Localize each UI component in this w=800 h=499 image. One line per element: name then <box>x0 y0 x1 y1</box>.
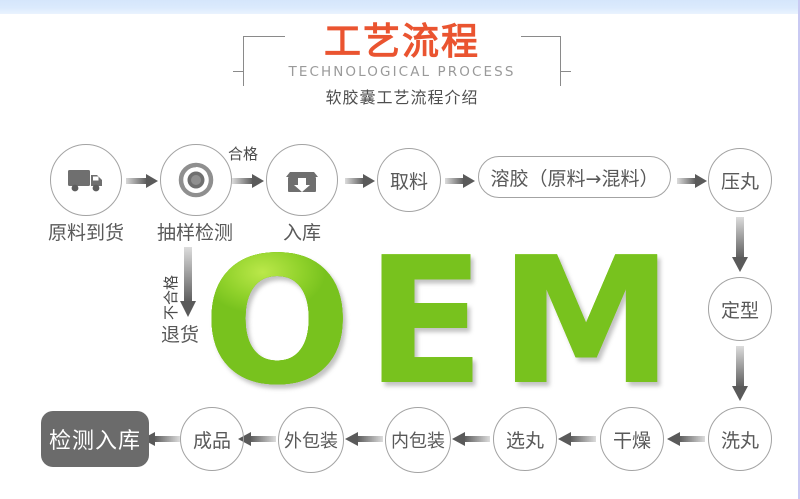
caption-sampling-inspection: 抽样检测 <box>145 218 245 245</box>
node-drying[interactable]: 干燥 <box>600 407 664 471</box>
node-gel-dissolving[interactable]: 溶胶（原料→混料） <box>478 156 671 198</box>
node-finished-product-label: 成品 <box>193 426 231 453</box>
node-shaping[interactable]: 定型 <box>708 277 772 341</box>
process-flow-infographic: 工艺流程 TECHNOLOGICAL PROCESS 软胶囊工艺流程介绍 OEM… <box>0 0 800 499</box>
node-pill-selection-label: 选丸 <box>506 426 544 453</box>
arrow-material-to-gel <box>445 172 475 190</box>
bracket-tick-right <box>560 71 571 72</box>
arrow-reject-down <box>178 247 198 319</box>
arrow-drying-to-selection <box>558 430 596 448</box>
arrow-washing-to-drying <box>667 430 705 448</box>
top-blue-strip <box>0 0 800 14</box>
arrow-pressing-to-shaping <box>730 217 750 273</box>
node-outer-packaging-label: 外包装 <box>284 427 338 453</box>
truck-icon <box>63 157 109 203</box>
node-pill-pressing[interactable]: 压丸 <box>708 148 772 212</box>
arrow-sampling-to-warehouse <box>232 172 264 190</box>
node-inspection-storage[interactable]: 检测入库 <box>41 411 149 467</box>
caption-return-goods: 退货 <box>145 320 215 347</box>
arrow-shaping-to-washing <box>730 346 750 402</box>
arrow-warehouse-to-material <box>345 172 375 190</box>
node-pill-washing-label: 洗丸 <box>721 426 759 453</box>
page-title-english: TECHNOLOGICAL PROCESS <box>243 64 561 80</box>
node-drying-label: 干燥 <box>613 426 651 453</box>
arrow-inner-to-outer-packaging <box>345 430 383 448</box>
node-pill-washing[interactable]: 洗丸 <box>708 407 772 471</box>
page-subtitle: 软胶囊工艺流程介绍 <box>243 86 561 110</box>
oem-watermark-text: OEM <box>205 238 685 408</box>
arrow-gel-to-pressing <box>677 172 707 190</box>
arrow-arrival-to-sampling <box>126 172 158 190</box>
arrow-selection-to-inner-packaging <box>452 430 490 448</box>
node-inspection-storage-label: 检测入库 <box>49 423 141 455</box>
caption-warehouse-in: 入库 <box>252 218 352 245</box>
node-material-taking[interactable]: 取料 <box>377 148 441 212</box>
node-shaping-label: 定型 <box>721 296 759 323</box>
page-title: 工艺流程 <box>243 22 561 62</box>
node-material-taking-label: 取料 <box>390 167 428 194</box>
node-pill-selection[interactable]: 选丸 <box>493 407 557 471</box>
label-qualified: 合格 <box>228 143 258 164</box>
node-inner-packaging[interactable]: 内包装 <box>385 407 451 473</box>
node-outer-packaging[interactable]: 外包装 <box>278 407 344 473</box>
node-finished-product[interactable]: 成品 <box>180 407 244 471</box>
inbox-down-arrow-icon <box>279 157 325 203</box>
header-block: 工艺流程 TECHNOLOGICAL PROCESS 软胶囊工艺流程介绍 <box>243 22 561 108</box>
node-pill-pressing-label: 压丸 <box>721 167 759 194</box>
sampling-inspection-icon <box>173 157 219 203</box>
node-inner-packaging-label: 内包装 <box>391 427 445 453</box>
node-raw-material-arrival[interactable] <box>50 144 122 216</box>
node-warehouse-in[interactable] <box>266 144 338 216</box>
caption-raw-material-arrival: 原料到货 <box>36 218 136 245</box>
node-sampling-inspection[interactable] <box>160 144 232 216</box>
node-gel-dissolving-label: 溶胶（原料→混料） <box>491 164 659 191</box>
